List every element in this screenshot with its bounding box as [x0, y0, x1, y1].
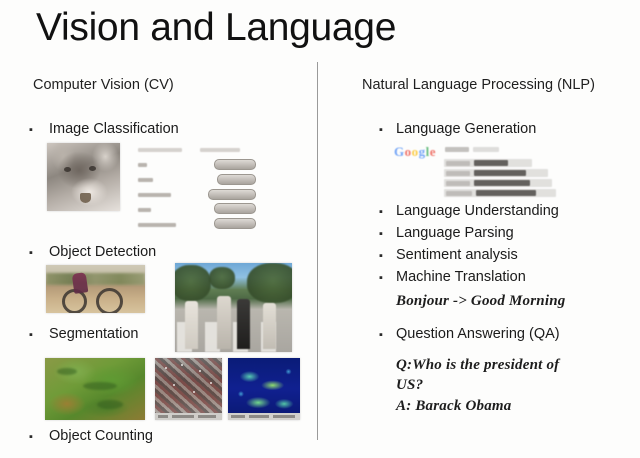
tree-detail: [247, 263, 292, 303]
qa-answer: A: Barack Obama: [396, 398, 512, 415]
suggestion-prefix: [446, 171, 470, 176]
slide-canvas: Vision and Language Computer Vision (CV)…: [0, 0, 640, 458]
suggestion-prefix: [446, 181, 470, 186]
google-autocomplete-screenshot: Google: [394, 143, 574, 195]
score-row-bar: [214, 159, 256, 170]
score-row-bar: [208, 189, 256, 200]
segmentation-map: [45, 358, 145, 420]
bicycle-wheel-detail: [96, 288, 123, 313]
bullet-dot-icon: ▪: [379, 125, 388, 136]
bullet-label: Segmentation: [49, 325, 138, 343]
bullet-sentiment-analysis: ▪ Sentiment analysis: [379, 246, 518, 264]
bullet-image-classification: ▪ Image Classification: [29, 120, 179, 138]
score-row-bar: [214, 218, 256, 229]
left-column-heading: Computer Vision (CV): [33, 76, 174, 94]
classification-scores-panel: [138, 146, 258, 212]
bullet-dot-icon: ▪: [379, 207, 388, 218]
bullet-label: Language Understanding: [396, 202, 559, 220]
bullet-label: Language Generation: [396, 120, 536, 138]
bullet-object-counting: ▪ Object Counting: [29, 427, 153, 445]
crowd-photo: [155, 358, 222, 420]
score-row-label: [138, 223, 176, 227]
abbey-road-detection-photo: [175, 263, 292, 352]
bullet-dot-icon: ▪: [29, 432, 38, 443]
bullet-dot-icon: ▪: [29, 330, 38, 341]
suggestion-prefix: [446, 191, 472, 196]
page-title: Vision and Language: [36, 4, 396, 52]
crowd-photo-caption-bar: [155, 413, 222, 420]
bullet-language-parsing: ▪ Language Parsing: [379, 224, 514, 242]
cat-photo: [47, 143, 120, 211]
bicycle-background-detail: [46, 273, 145, 285]
qa-question-line-2: US?: [396, 377, 423, 394]
crowd-highlight-detail: [165, 367, 167, 369]
bullet-dot-icon: ▪: [29, 125, 38, 136]
heatmap-caption-bar: [228, 413, 300, 420]
bullet-machine-translation: ▪ Machine Translation: [379, 268, 526, 286]
bicycle-rider-detail: [72, 272, 89, 294]
bullet-label: Language Parsing: [396, 224, 514, 242]
crowd-density-heatmap: [228, 358, 300, 420]
bullet-dot-icon: ▪: [379, 229, 388, 240]
pedestrian-detail: [263, 303, 276, 349]
score-row-label: [138, 193, 171, 197]
bullet-segmentation: ▪ Segmentation: [29, 325, 138, 343]
suggestion-term: [474, 170, 526, 176]
score-row-bar: [214, 203, 256, 214]
translation-example: Bonjour -> Good Morning: [396, 293, 565, 310]
bullet-label: Sentiment analysis: [396, 246, 518, 264]
bullet-dot-icon: ▪: [379, 330, 388, 341]
pedestrian-detail: [217, 296, 231, 349]
crowd-highlight-detail: [173, 384, 175, 386]
search-query-completion: [473, 147, 499, 152]
crowd-highlight-detail: [181, 364, 183, 366]
bullet-label: Object Counting: [49, 427, 153, 445]
score-table-header-value: [200, 148, 240, 152]
bullet-dot-icon: ▪: [379, 273, 388, 284]
bullet-label: Question Answering (QA): [396, 325, 560, 343]
bullet-dot-icon: ▪: [379, 251, 388, 262]
bullet-dot-icon: ▪: [29, 248, 38, 259]
suggestion-prefix: [446, 161, 470, 166]
right-column-heading: Natural Language Processing (NLP): [362, 76, 595, 94]
google-logo-icon: Google: [394, 145, 436, 158]
score-row-label: [138, 163, 147, 167]
crowd-highlight-detail: [193, 391, 195, 393]
score-row-bar: [217, 174, 256, 185]
crowd-highlight-detail: [199, 370, 201, 372]
score-table-header-label: [138, 148, 182, 152]
suggestion-term: [474, 180, 530, 186]
tree-detail: [175, 265, 211, 301]
search-query-text: [445, 147, 469, 152]
bullet-label: Machine Translation: [396, 268, 526, 286]
pedestrian-detail: [237, 299, 250, 349]
bullet-object-detection: ▪ Object Detection: [29, 243, 156, 261]
score-row-label: [138, 178, 153, 182]
bullet-language-generation: ▪ Language Generation: [379, 120, 536, 138]
bullet-question-answering: ▪ Question Answering (QA): [379, 325, 560, 343]
column-divider: [317, 62, 318, 440]
crowd-highlight-detail: [210, 382, 212, 384]
bullet-label: Image Classification: [49, 120, 179, 138]
segment-region-detail: [97, 400, 123, 409]
suggestion-term: [474, 160, 508, 166]
bullet-label: Object Detection: [49, 243, 156, 261]
score-row-label: [138, 208, 151, 212]
bullet-language-understanding: ▪ Language Understanding: [379, 202, 559, 220]
cat-collar-tag-detail: [80, 193, 91, 203]
bicycle-detection-photo: [46, 265, 145, 313]
segment-region-detail: [83, 382, 117, 390]
qa-question-line-1: Q:Who is the president of: [396, 357, 559, 374]
cat-eye-left-detail: [64, 167, 71, 172]
cat-eye-right-detail: [89, 166, 96, 171]
pedestrian-detail: [185, 301, 198, 349]
suggestion-term: [476, 190, 536, 196]
tree-detail: [209, 267, 235, 289]
segment-region-detail: [57, 368, 77, 375]
